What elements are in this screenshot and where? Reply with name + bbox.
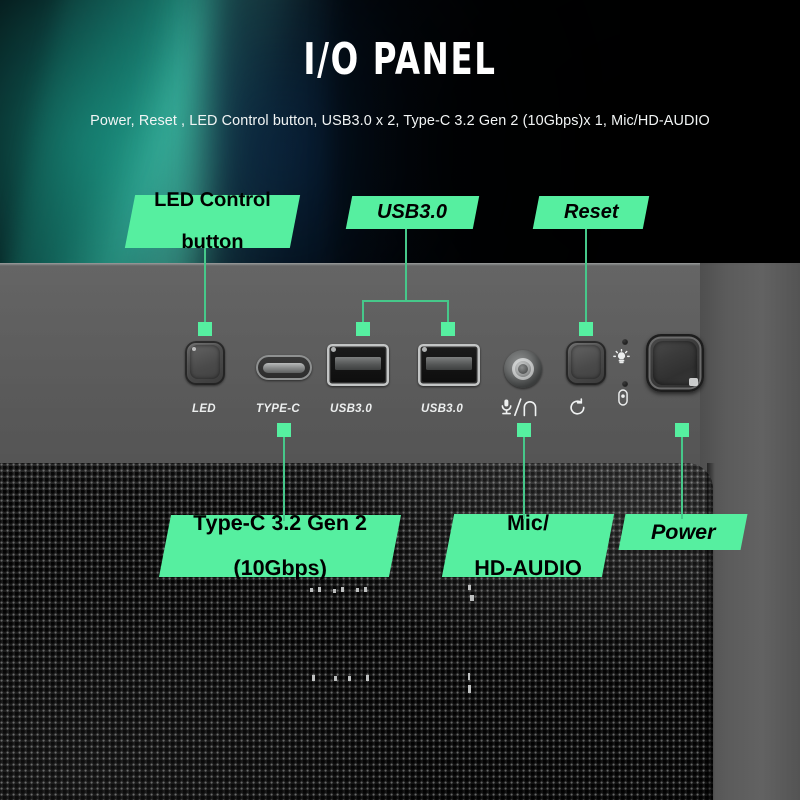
connector-usb-bridge [362,300,448,302]
callout-type-c[interactable]: Type-C 3.2 Gen 2 (10Gbps) [159,515,401,577]
connector-node-usb-1 [356,322,370,336]
connector-node-power [675,423,689,437]
callout-mic-line1: Mic/ [472,512,584,534]
callout-usb30-text: USB3.0 [377,202,447,223]
connector-mic [523,429,525,519]
reset-symbol-icon [568,398,587,422]
power-button-highlight [689,378,698,386]
connector-usb-stem [405,229,407,301]
port-label-led: LED [192,403,216,415]
callout-reset-text: Reset [564,202,618,223]
port-label-usb30-1: USB3.0 [330,403,372,415]
reset-button[interactable] [566,341,606,385]
connector-node-mic [517,423,531,437]
page-title: I/O PANEL [72,34,728,85]
connector-power [681,429,683,519]
connector-node-usb-2 [441,322,455,336]
callout-usb30[interactable]: USB3.0 [346,196,479,229]
callout-reset[interactable]: Reset [533,196,649,229]
connector-usb-left [362,300,364,324]
connector-usb-right [447,300,449,324]
led-control-button[interactable] [185,341,225,385]
hdd-led-indicator [622,381,628,387]
callout-power-text: Power [651,521,716,543]
mic-headphone-icon [500,398,546,422]
hdd-led-icon [617,389,629,410]
io-panel-infographic: I/O PANEL Power, Reset , LED Control but… [0,0,800,800]
connector-type-c [283,429,285,521]
usb-port-2-highlight [422,347,427,352]
usb30-port-1[interactable] [327,344,389,386]
connector-node-led [198,322,212,336]
connector-node-type-c [277,423,291,437]
callout-led-line1: LED Control [152,190,273,211]
port-label-usb30-2: USB3.0 [421,403,463,415]
callout-led-control-button[interactable]: LED Control button [125,195,300,248]
usb-port-1-highlight [331,347,336,352]
connector-node-reset [579,322,593,336]
type-c-port[interactable] [256,355,312,380]
power-button[interactable] [646,334,704,392]
led-button-highlight [192,347,196,351]
callout-led-line2: button [152,232,273,253]
audio-jack[interactable] [504,350,542,388]
callout-type-c-line2: (10Gbps) [191,557,369,579]
usb30-port-2[interactable] [418,344,480,386]
callout-power[interactable]: Power [619,514,748,550]
connector-led [204,248,206,327]
callout-type-c-line1: Type-C 3.2 Gen 2 [191,512,369,534]
connector-reset [585,229,587,327]
power-led-bulb-icon [613,349,630,370]
callout-mic-hd-audio[interactable]: Mic/ HD-AUDIO [442,514,614,577]
callout-mic-line2: HD-AUDIO [472,557,584,579]
audio-jack-center [518,364,528,374]
page-subtitle: Power, Reset , LED Control button, USB3.… [0,113,800,129]
port-label-type-c: TYPE-C [256,403,300,415]
power-led-indicator [622,339,628,345]
